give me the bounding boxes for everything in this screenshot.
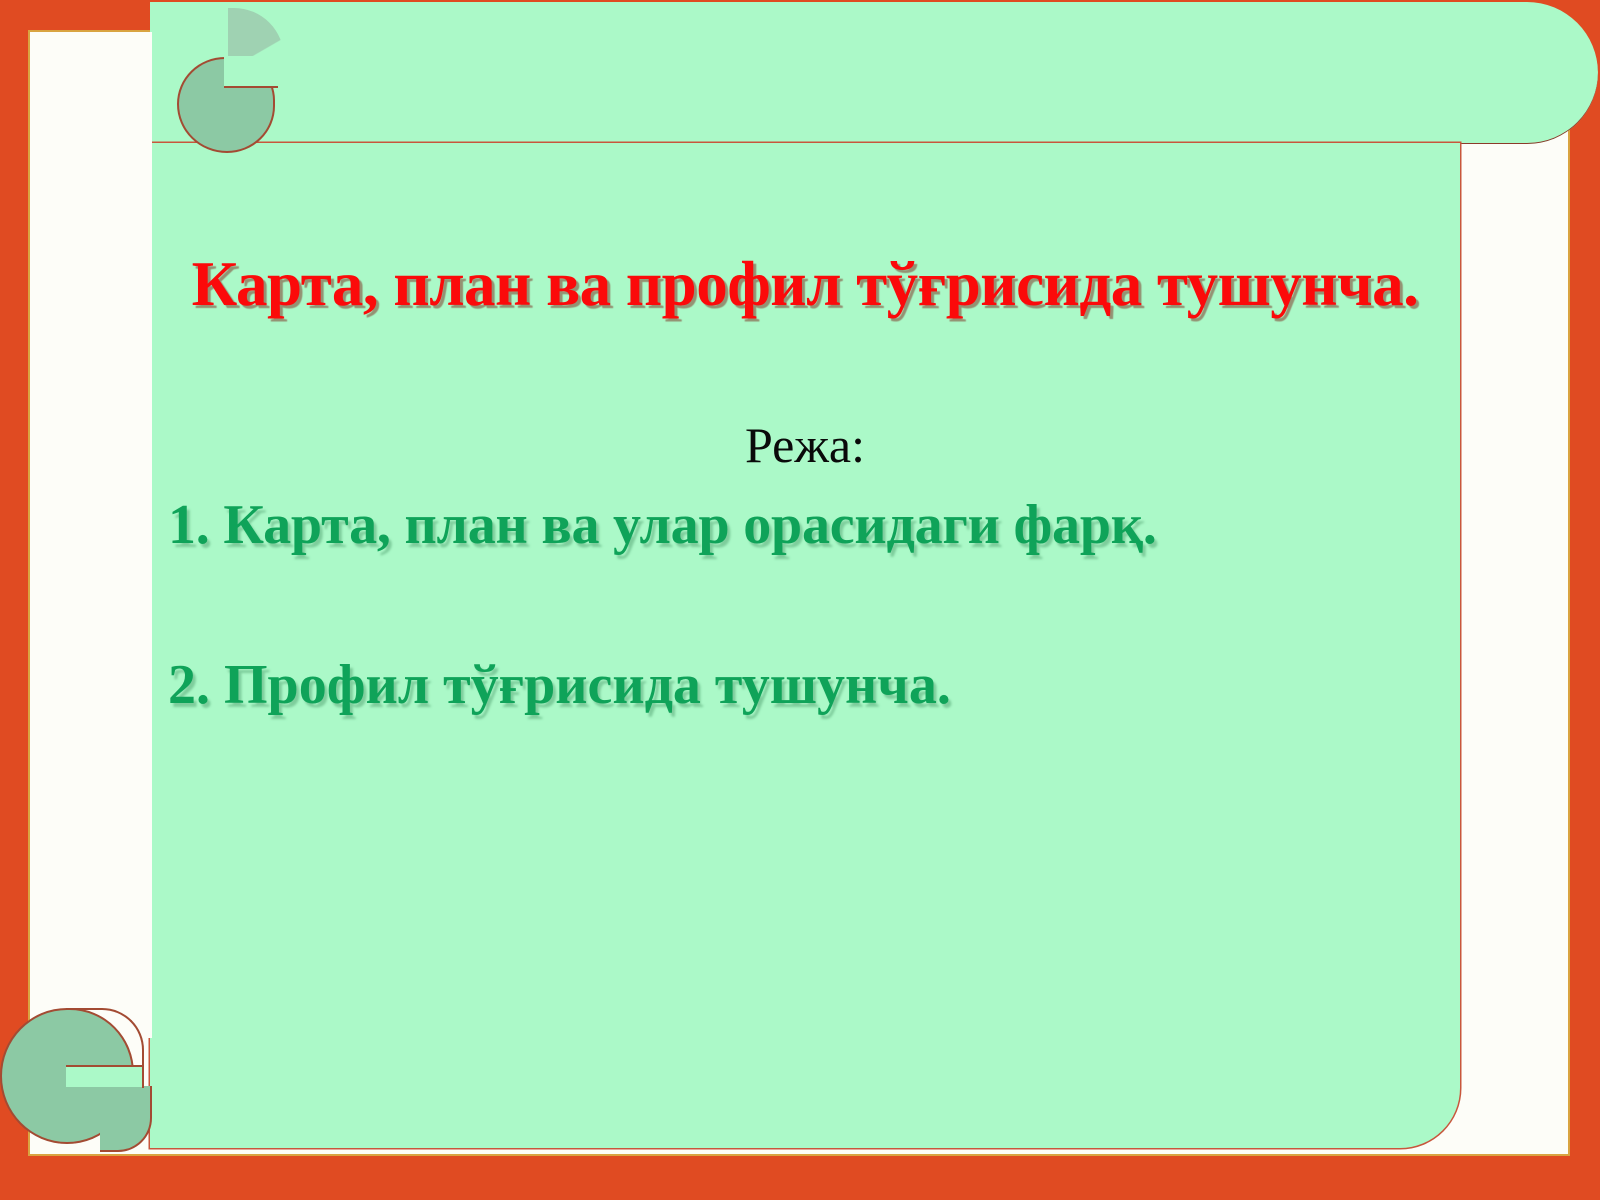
scroll-curl-bottom-inner-icon	[66, 1008, 144, 1088]
scroll-curl-top-cut-icon	[224, 56, 278, 88]
slide-content: Карта, план ва профил тўғрисида тушунча.…	[150, 143, 1460, 1148]
scroll-banner	[150, 2, 1598, 144]
paper-left-edge	[30, 32, 152, 1038]
plan-label: Режа:	[190, 418, 1420, 473]
slide-canvas: Карта, план ва профил тўғрисида тушунча.…	[0, 0, 1600, 1200]
list-item: 1. Карта, план ва улар орасидаги фарқ.	[168, 495, 1448, 557]
list-item: 2. Профил тўғрисида тушунча.	[168, 655, 1448, 717]
slide-title: Карта, план ва профил тўғрисида тушунча.	[190, 241, 1420, 328]
